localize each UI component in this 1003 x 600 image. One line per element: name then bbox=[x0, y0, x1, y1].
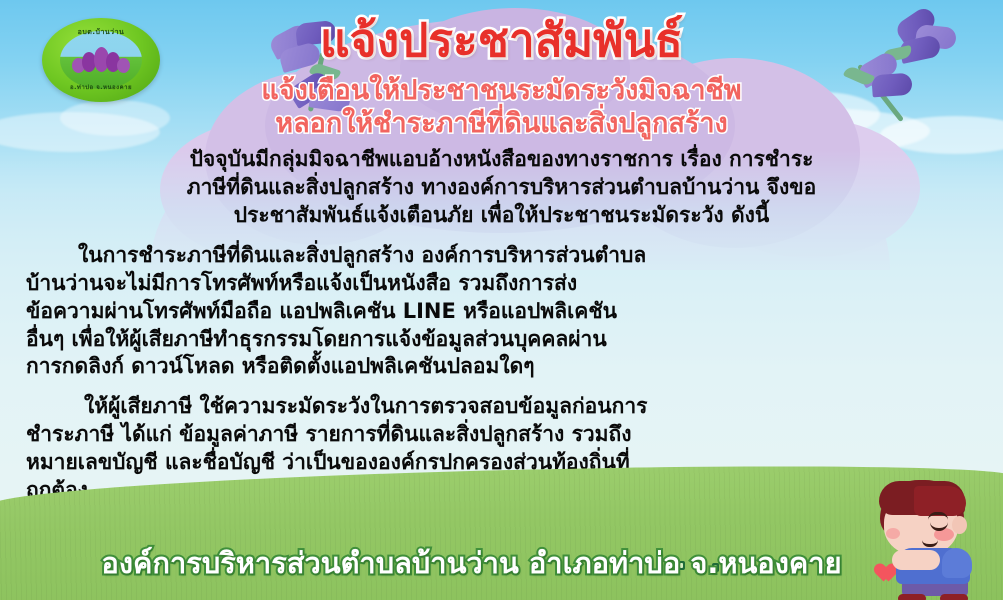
boy-cheek-left bbox=[886, 528, 900, 539]
paragraph-2-line-5: การกดลิงก์ ดาวน์โหลด หรือติดตั้งแอปพลิเค… bbox=[26, 353, 977, 381]
announcement-body: ปัจจุบันมีกลุ่มมิจฉาชีพแอบอ้างหนังสือของ… bbox=[26, 146, 977, 517]
boy-shoe-right bbox=[940, 594, 968, 600]
paragraph-1-line-1: ปัจจุบันมีกลุ่มมิจฉาชีพแอบอ้างหนังสือของ… bbox=[26, 146, 977, 174]
subtitle-line-2: หลอกให้ชำระภาษีที่ดินและสิ่งปลูกสร้าง bbox=[0, 107, 1003, 141]
boy-shoe-left bbox=[898, 594, 926, 600]
heart-icon bbox=[870, 556, 892, 576]
boy-ear bbox=[952, 516, 967, 534]
page-title: แจ้งประชาสัมพันธ์ bbox=[0, 16, 1003, 66]
boy-hand bbox=[906, 552, 930, 568]
footer-organization-name: องค์การบริหารส่วนตำบลบ้านว่าน อำเภอท่าบ่… bbox=[0, 540, 1003, 586]
page-subtitle: แจ้งเตือนให้ประชาชนระมัดระวังมิจฉาชีพ หล… bbox=[0, 74, 1003, 142]
paragraph-1-line-3: ประชาสัมพันธ์แจ้งเตือนภัย เพื่อให้ประชาช… bbox=[26, 202, 977, 230]
announcement-poster: อบต.บ้านว่าน อ.ท่าบ่อ จ.หนองคาย แจ้งประช… bbox=[0, 0, 1003, 600]
paragraph-2-line-3: ข้อความผ่านโทรศัพท์มือถือ แอปพลิเคชัน LI… bbox=[26, 298, 977, 326]
paragraph-3-line-1: ให้ผู้เสียภาษี ใช้ความระมัดระวังในการตรว… bbox=[26, 393, 977, 421]
subtitle-line-1: แจ้งเตือนให้ประชาชนระมัดระวังมิจฉาชีพ bbox=[0, 74, 1003, 108]
paragraph-2-line-2: บ้านว่านจะไม่มีการโทรศัพท์หรือแจ้งเป็นหน… bbox=[26, 270, 977, 298]
paragraph-2-line-1: ในการชำระภาษีที่ดินและสิ่งปลูกสร้าง องค์… bbox=[26, 242, 977, 270]
cartoon-boy-bowing bbox=[856, 478, 996, 600]
boy-eyebrow bbox=[928, 512, 948, 520]
paragraph-2: ในการชำระภาษีที่ดินและสิ่งปลูกสร้าง องค์… bbox=[26, 242, 977, 382]
title-block: แจ้งประชาสัมพันธ์ แจ้งเตือนให้ประชาชนระม… bbox=[0, 16, 1003, 141]
paragraph-3-line-2: ชำระภาษี ได้แก่ ข้อมูลค่าภาษี รายการที่ด… bbox=[26, 421, 977, 449]
paragraph-2-line-4: อื่นๆ เพื่อให้ผู้เสียภาษีทำธุรกรรมโดยการ… bbox=[26, 326, 977, 354]
boy-sleeve bbox=[942, 548, 972, 578]
paragraph-1-line-2: ภาษีที่ดินและสิ่งปลูกสร้าง ทางองค์การบริ… bbox=[26, 174, 977, 202]
paragraph-1: ปัจจุบันมีกลุ่มมิจฉาชีพแอบอ้างหนังสือของ… bbox=[26, 146, 977, 230]
